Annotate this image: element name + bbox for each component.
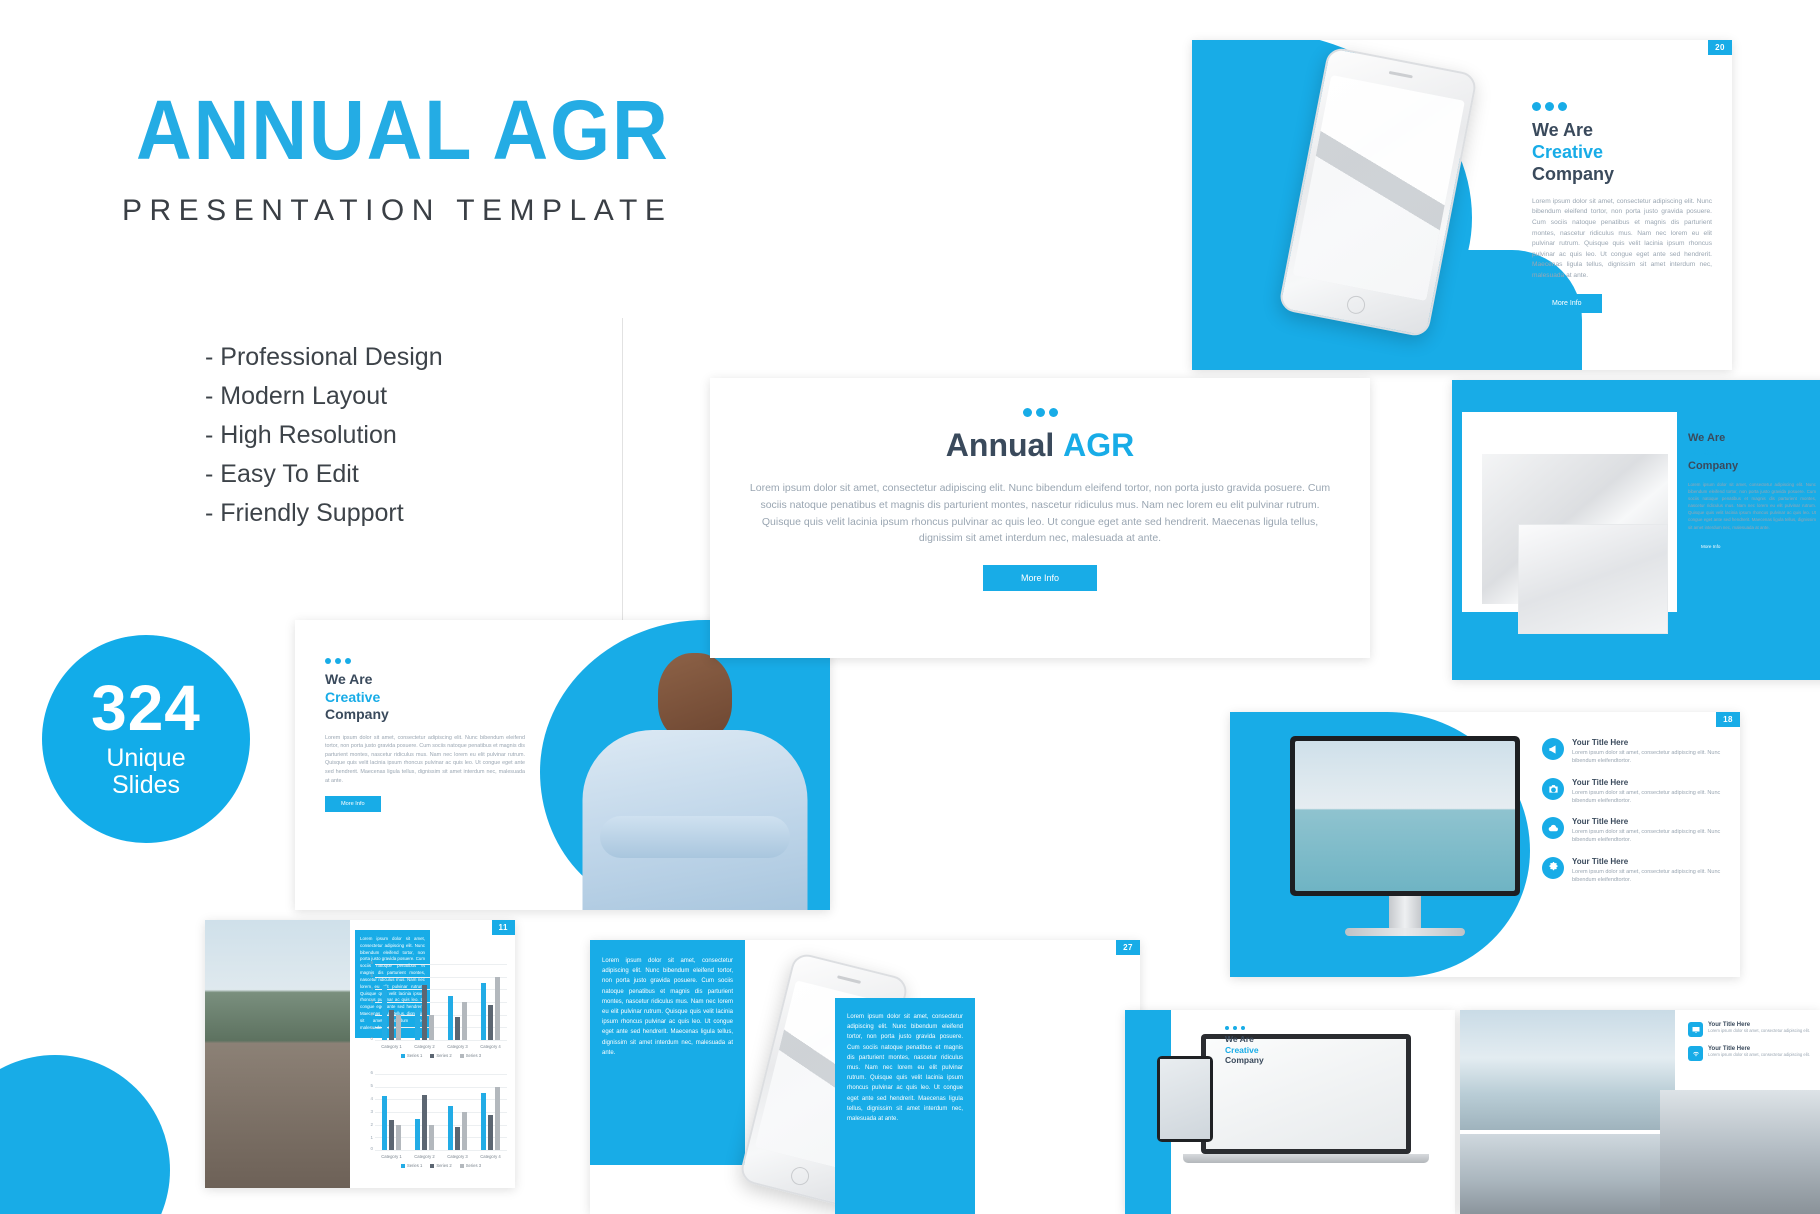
decorative-blob-bottom-left [0,1055,170,1214]
legend-item: Series 2 [430,1053,451,1058]
slide-heading-line1: We Are [1688,432,1816,446]
cloud-icon [1542,817,1564,839]
y-tick-5: 5 [359,973,373,978]
y-tick-6: 6 [359,1070,373,1075]
list-item-desc: Lorem ipsum dolor sit amet, consectetur … [1708,1028,1810,1034]
person-head [658,653,732,741]
chart-bars [375,964,507,1040]
x-label: Category 1 [381,1044,401,1049]
dots-decoration [325,658,525,664]
wifi-icon [1688,1046,1703,1061]
slide-number-badge: 20 [1708,40,1732,55]
slide-thumbnail-phone-center[interactable]: Lorem ipsum dolor sit amet, consectetur … [590,940,1140,1214]
slide-heading-line2: Creative [325,689,525,707]
bar-chart-bottom: 6 5 4 3 2 1 0 Category 1 Category 2 Cate… [359,1072,509,1168]
dots-decoration [1225,1026,1335,1030]
list-item[interactable]: Your Title Here Lorem ipsum dolor sit am… [1542,778,1722,806]
slide-paragraph-right: Lorem ipsum dolor sit amet, consectetur … [835,998,975,1214]
slide-paragraph: Lorem ipsum dolor sit amet, consectetur … [325,734,525,786]
chart-x-labels: Category 1 Category 2 Category 3 Categor… [375,1154,507,1159]
slide-thumbnail-portrait[interactable] [1660,1090,1820,1214]
list-item[interactable]: Your Title Here Lorem ipsum dolor sit am… [1542,738,1722,766]
cliff-photo [205,920,350,1188]
icon-feature-list: Your Title Here Lorem ipsum dolor sit am… [1542,738,1722,896]
imac-screen [1295,741,1515,891]
chart-bars [375,1074,507,1150]
y-tick-0: 0 [359,1036,373,1041]
list-item-desc: Lorem ipsum dolor sit amet, consectetur … [1572,828,1722,845]
icon-feature-list-small: Your Title Here Lorem ipsum dolor sit am… [1688,1022,1812,1070]
legend-item: Series 1 [401,1163,422,1168]
slides-label-line2: Slides [106,772,185,800]
chart-legend: Series 1 Series 2 Series 3 [375,1053,507,1058]
list-item[interactable]: Your Title Here Lorem ipsum dolor sit am… [1688,1022,1812,1037]
megaphone-icon [1542,738,1564,760]
bar-chart-top: 6 5 4 3 2 1 0 Category 1 Category 2 Cate… [359,962,509,1058]
person-photo [570,635,820,910]
template-preview-canvas: ANNUAL AGR PRESENTATION TEMPLATE - Profe… [0,0,1820,1214]
y-tick-2: 2 [359,1012,373,1017]
list-item: - High Resolution [205,416,443,455]
imac-mockup [1290,736,1520,896]
slide-number-badge: 11 [492,920,515,935]
list-item[interactable]: Your Title Here Lorem ipsum dolor sit am… [1688,1046,1812,1061]
slide-thumbnail-chart[interactable]: Lorem ipsum dolor sit amet, consectetur … [205,920,515,1188]
list-item: - Modern Layout [205,377,443,416]
x-label: Category 4 [480,1044,500,1049]
slide-heading-line1: We Are [1532,120,1712,142]
chart-legend: Series 1 Series 2 Series 3 [375,1163,507,1168]
legend-label: Series 3 [466,1163,481,1168]
feature-list: - Professional Design - Modern Layout - … [205,338,443,533]
legend-label: Series 2 [436,1163,451,1168]
imac-stand-foot [1345,928,1465,936]
list-item-title: Your Title Here [1572,778,1722,787]
y-tick-1: 1 [359,1025,373,1030]
photo-frame [1462,412,1677,612]
legend-label: Series 3 [466,1053,481,1058]
keyboard-photo-overlay [1518,524,1668,634]
list-item-title: Your Title Here [1572,817,1722,826]
slides-label-line1: Unique [106,745,185,773]
list-item-desc: Lorem ipsum dolor sit amet, consectetur … [1572,868,1722,885]
phone-screen [1293,75,1465,301]
y-tick-4: 4 [359,986,373,991]
tablet-screen [1160,1059,1210,1139]
y-tick-2: 2 [359,1122,373,1127]
x-label: Category 2 [414,1154,434,1159]
dots-decoration [1688,420,1816,426]
legend-item: Series 3 [460,1163,481,1168]
center-title-dark: Annual [946,427,1054,463]
slide-number-badge: 18 [1716,712,1740,727]
vertical-divider [622,318,623,636]
legend-label: Series 2 [436,1053,451,1058]
more-info-button[interactable]: More Info [983,565,1097,591]
y-tick-4: 4 [359,1096,373,1101]
list-item-desc: Lorem ipsum dolor sit amet, consectetur … [1572,789,1722,806]
slides-count: 324 [91,678,201,739]
slide-heading-line2: Creative [1532,142,1712,164]
list-item-desc: Lorem ipsum dolor sit amet, consectetur … [1708,1052,1810,1058]
slide-heading-line3: Company [1688,460,1816,474]
more-info-button[interactable]: More Info [1688,540,1733,553]
x-label: Category 2 [414,1044,434,1049]
tablet-mockup [1157,1056,1213,1142]
x-label: Category 3 [447,1154,467,1159]
unique-slides-badge: 324 Unique Slides [42,635,250,843]
beach-photo [1460,1010,1675,1130]
list-item[interactable]: Your Title Here Lorem ipsum dolor sit am… [1542,817,1722,845]
dots-decoration [710,408,1370,417]
list-item-desc: Lorem ipsum dolor sit amet, consectetur … [1572,749,1722,766]
slide-number-badge: 27 [1116,940,1140,955]
slide-heading-line3: Company [1532,164,1712,186]
slide-thumbnail-annual-agr[interactable]: Annual AGR Lorem ipsum dolor sit amet, c… [710,378,1370,658]
slide-thumbnail-imac[interactable]: Your Title Here Lorem ipsum dolor sit am… [1230,712,1740,977]
page-subtitle: PRESENTATION TEMPLATE [122,194,672,228]
slide-heading-line3: Company [325,706,525,724]
list-item: - Friendly Support [205,494,443,533]
legend-label: Series 1 [407,1163,422,1168]
center-title-blue: AGR [1063,427,1134,463]
list-item: - Professional Design [205,338,443,377]
legend-item: Series 2 [430,1163,451,1168]
page-title: ANNUAL AGR [136,88,670,172]
slide-thumbnail-person[interactable]: We Are Creative Company Lorem ipsum dolo… [295,620,830,910]
phone-home-button [789,1165,811,1187]
slide-paragraph-left: Lorem ipsum dolor sit amet, consectetur … [590,940,745,1165]
center-paragraph: Lorem ipsum dolor sit amet, consectetur … [745,480,1335,547]
phone-home-button [1346,294,1367,315]
laptop-base [1183,1154,1429,1163]
slide-heading-line1: We Are [1225,1034,1335,1045]
list-item[interactable]: Your Title Here Lorem ipsum dolor sit am… [1542,857,1722,885]
imac-bezel [1290,736,1520,896]
y-tick-3: 3 [359,1109,373,1114]
legend-item: Series 1 [401,1053,422,1058]
street-photo [1460,1134,1675,1214]
gear-icon [1542,857,1564,879]
list-item-title: Your Title Here [1572,857,1722,866]
slide-heading-line3: Company [1225,1055,1335,1066]
x-label: Category 1 [381,1154,401,1159]
legend-item: Series 3 [460,1053,481,1058]
x-label: Category 3 [447,1044,467,1049]
more-info-button[interactable]: More Info [325,796,381,812]
y-tick-1: 1 [359,1135,373,1140]
monitor-icon [1688,1022,1703,1037]
y-tick-0: 0 [359,1146,373,1151]
slide-thumbnail-phone-right[interactable]: We Are Creative Company Lorem ipsum dolo… [1192,40,1732,370]
more-info-button[interactable]: More Info [1532,294,1602,313]
list-item: - Easy To Edit [205,455,443,494]
x-label: Category 4 [480,1154,500,1159]
slide-paragraph: Lorem ipsum dolor sit amet, consectetur … [1688,481,1816,530]
chart-x-labels: Category 1 Category 2 Category 3 Categor… [375,1044,507,1049]
imac-stand-neck [1389,896,1421,930]
y-tick-5: 5 [359,1083,373,1088]
list-item-title: Your Title Here [1572,738,1722,747]
slide-paragraph: Lorem ipsum dolor sit amet, consectetur … [1532,197,1712,281]
y-tick-6: 6 [359,960,373,965]
slide-heading-line1: We Are [325,671,525,689]
slide-thumbnail-devices[interactable]: We Are Creative Company [1125,1010,1455,1214]
slide-heading-line2: Creative [1225,1045,1335,1056]
phone-speaker [837,975,861,984]
slide-thumbnail-keyboard[interactable]: We Are Creative Company Lorem ipsum dolo… [1452,380,1820,680]
y-tick-3: 3 [359,999,373,1004]
legend-label: Series 1 [407,1053,422,1058]
person-arms [600,816,790,858]
phone-speaker [1389,71,1413,79]
dots-decoration [1532,102,1712,111]
camera-icon [1542,778,1564,800]
slide-heading-line2: Creative [1688,446,1816,460]
